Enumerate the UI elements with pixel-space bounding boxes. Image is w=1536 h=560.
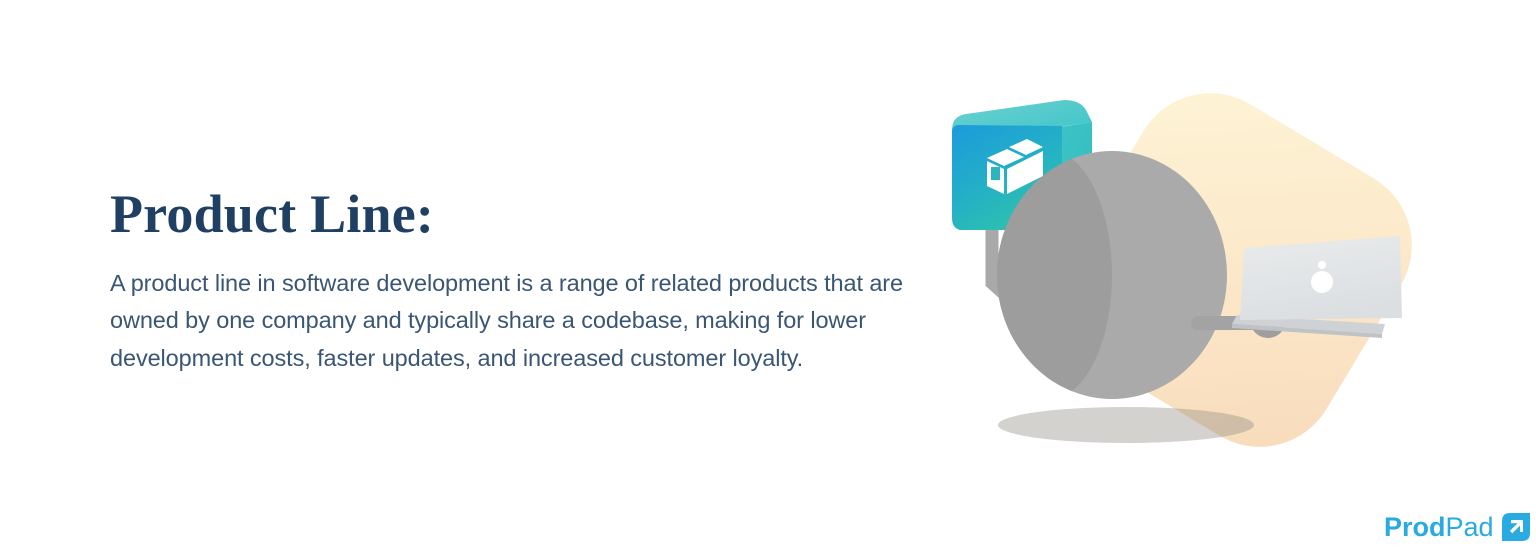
prodpad-wordmark: ProdPad bbox=[1384, 514, 1494, 541]
prodpad-wordmark-prod: Prod bbox=[1384, 512, 1446, 542]
robot-ground-shadow bbox=[998, 407, 1254, 443]
prodpad-wordmark-pad: Pad bbox=[1446, 512, 1494, 542]
prodpad-logo[interactable]: ProdPad bbox=[1384, 512, 1531, 542]
definition-card: Product Line: A product line in software… bbox=[0, 0, 1536, 560]
illustration bbox=[930, 70, 1450, 490]
definition-text: A product line in software development i… bbox=[110, 243, 920, 378]
prodpad-arrow-mark-icon bbox=[1501, 512, 1531, 542]
page-title: Product Line: bbox=[110, 186, 930, 243]
text-block: Product Line: A product line in software… bbox=[110, 186, 930, 377]
